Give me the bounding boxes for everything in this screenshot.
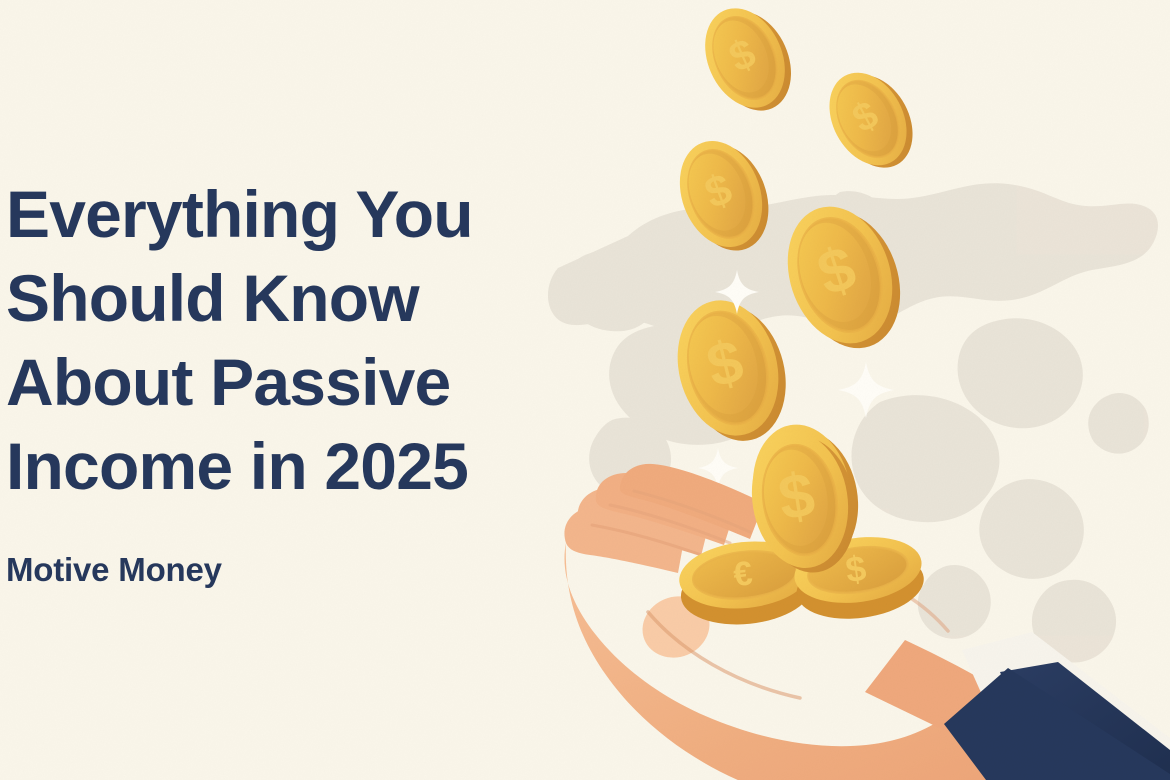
palm-crease-2 [906, 595, 948, 631]
page-title: Everything You Should Know About Passive… [6, 172, 566, 509]
svg-text:€: € [732, 554, 755, 594]
coin-falling-1: $ [690, 0, 806, 125]
brand-name: Motive Money [6, 509, 566, 589]
coin-falling-4: $ [771, 191, 917, 364]
text-block: Everything You Should Know About Passive… [6, 172, 566, 589]
arm-sleeve-group [944, 632, 1170, 780]
coin-falling-5: $ [664, 288, 800, 453]
coin-falling-3: $ [666, 128, 783, 264]
sparkle-2 [838, 362, 894, 418]
coin-falling-2: $ [814, 57, 928, 183]
poster-canvas: $ $ $ $ $ $ [0, 0, 1170, 780]
